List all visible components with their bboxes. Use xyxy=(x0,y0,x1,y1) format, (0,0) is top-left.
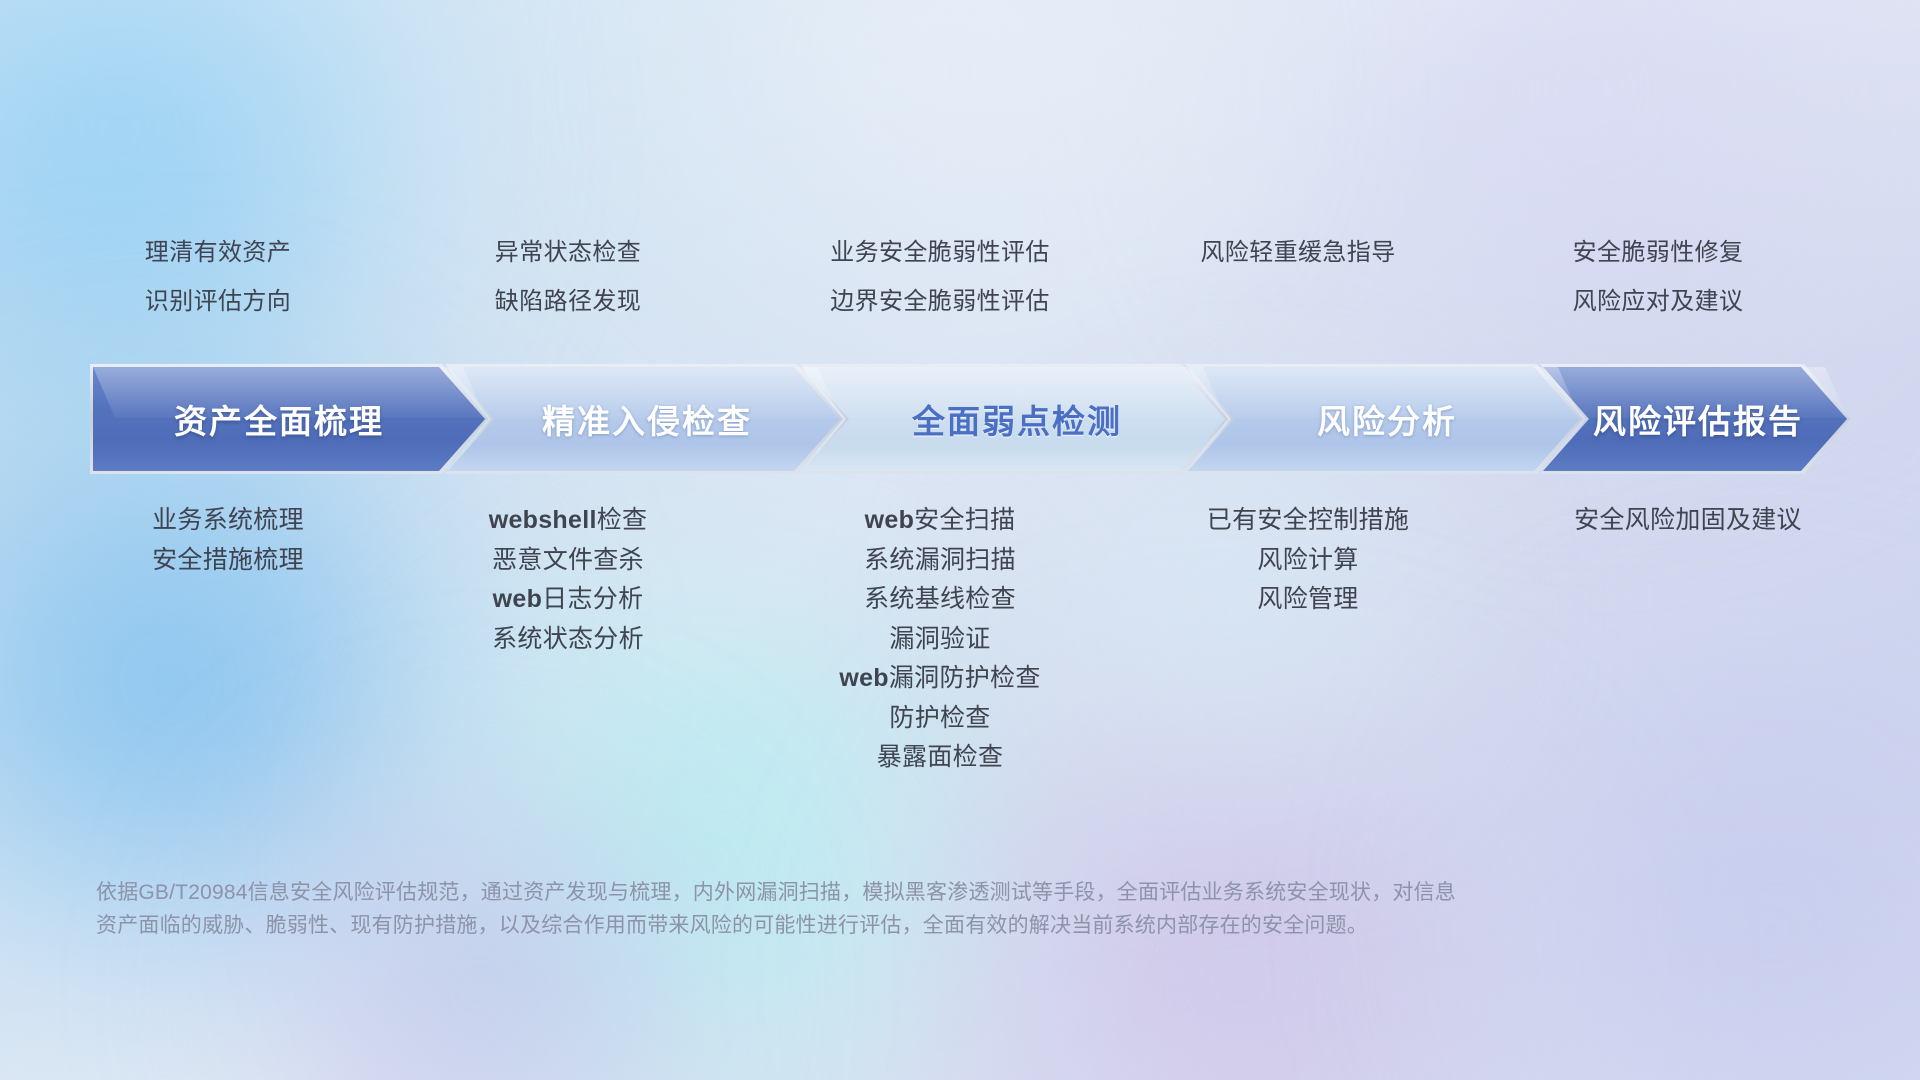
process-arrow-weakness-detection[interactable]: 全面弱点检测 xyxy=(800,364,1228,474)
bottom-label: 风险管理 xyxy=(1257,575,1358,624)
process-arrow-assessment-report[interactable]: 风险评估报告 xyxy=(1540,364,1850,474)
bottom-label-emphasis: web xyxy=(839,664,889,692)
bottom-label-emphasis: web xyxy=(493,585,543,613)
process-arrow-intrusion-check[interactable]: 精准入侵检查 xyxy=(445,364,843,474)
top-label-row: 理清有效资产识别评估方向异常状态检查缺陷路径发现业务安全脆弱性评估边界安全脆弱性… xyxy=(0,228,1920,348)
top-label: 边界安全脆弱性评估 xyxy=(830,277,1050,326)
footer-line-1: 依据GB/T20984信息安全风险评估规范，通过资产发现与梳理，内外网漏洞扫描，… xyxy=(96,876,1616,909)
process-arrow-risk-analysis[interactable]: 风险分析 xyxy=(1185,364,1583,474)
top-label: 理清有效资产 xyxy=(145,228,291,277)
footer-description: 依据GB/T20984信息安全风险评估规范，通过资产发现与梳理，内外网漏洞扫描，… xyxy=(96,876,1616,942)
arrow-label-assessment-report: 风险评估报告 xyxy=(1540,395,1850,443)
bottom-label: 安全风险加固及建议 xyxy=(1574,496,1802,545)
top-label: 风险应对及建议 xyxy=(1573,277,1744,326)
arrow-label-asset-inventory: 资产全面梳理 xyxy=(90,395,488,443)
top-label: 风险轻重缓急指导 xyxy=(1200,228,1395,277)
process-diagram: 理清有效资产识别评估方向异常状态检查缺陷路径发现业务安全脆弱性评估边界安全脆弱性… xyxy=(0,0,1920,1080)
process-arrow-banner: 资产全面梳理精准入侵检查全面弱点检测风险分析风险评估报告 xyxy=(90,364,1850,474)
process-arrow-asset-inventory[interactable]: 资产全面梳理 xyxy=(90,364,488,474)
arrow-label-weakness-detection: 全面弱点检测 xyxy=(800,395,1228,443)
arrow-label-intrusion-check: 精准入侵检查 xyxy=(445,395,843,443)
bottom-label: 系统状态分析 xyxy=(492,615,644,664)
footer-line-2: 资产面临的威胁、脆弱性、现有防护措施，以及综合作用而带来风险的可能性进行评估，全… xyxy=(96,909,1616,942)
bottom-label-row: 业务系统梳理安全措施梳理webshell检查恶意文件查杀web日志分析系统状态分… xyxy=(0,496,1920,826)
top-label: 业务安全脆弱性评估 xyxy=(830,228,1050,277)
top-label: 缺陷路径发现 xyxy=(495,277,641,326)
bottom-label-emphasis: web xyxy=(865,506,915,534)
bottom-label: 安全措施梳理 xyxy=(152,536,304,585)
arrow-label-risk-analysis: 风险分析 xyxy=(1185,395,1583,443)
bottom-label-emphasis: webshell xyxy=(489,506,597,534)
bottom-label: 暴露面检查 xyxy=(877,733,1004,782)
top-label: 安全脆弱性修复 xyxy=(1573,228,1744,277)
top-label: 异常状态检查 xyxy=(495,228,641,277)
top-label: 识别评估方向 xyxy=(145,277,291,326)
